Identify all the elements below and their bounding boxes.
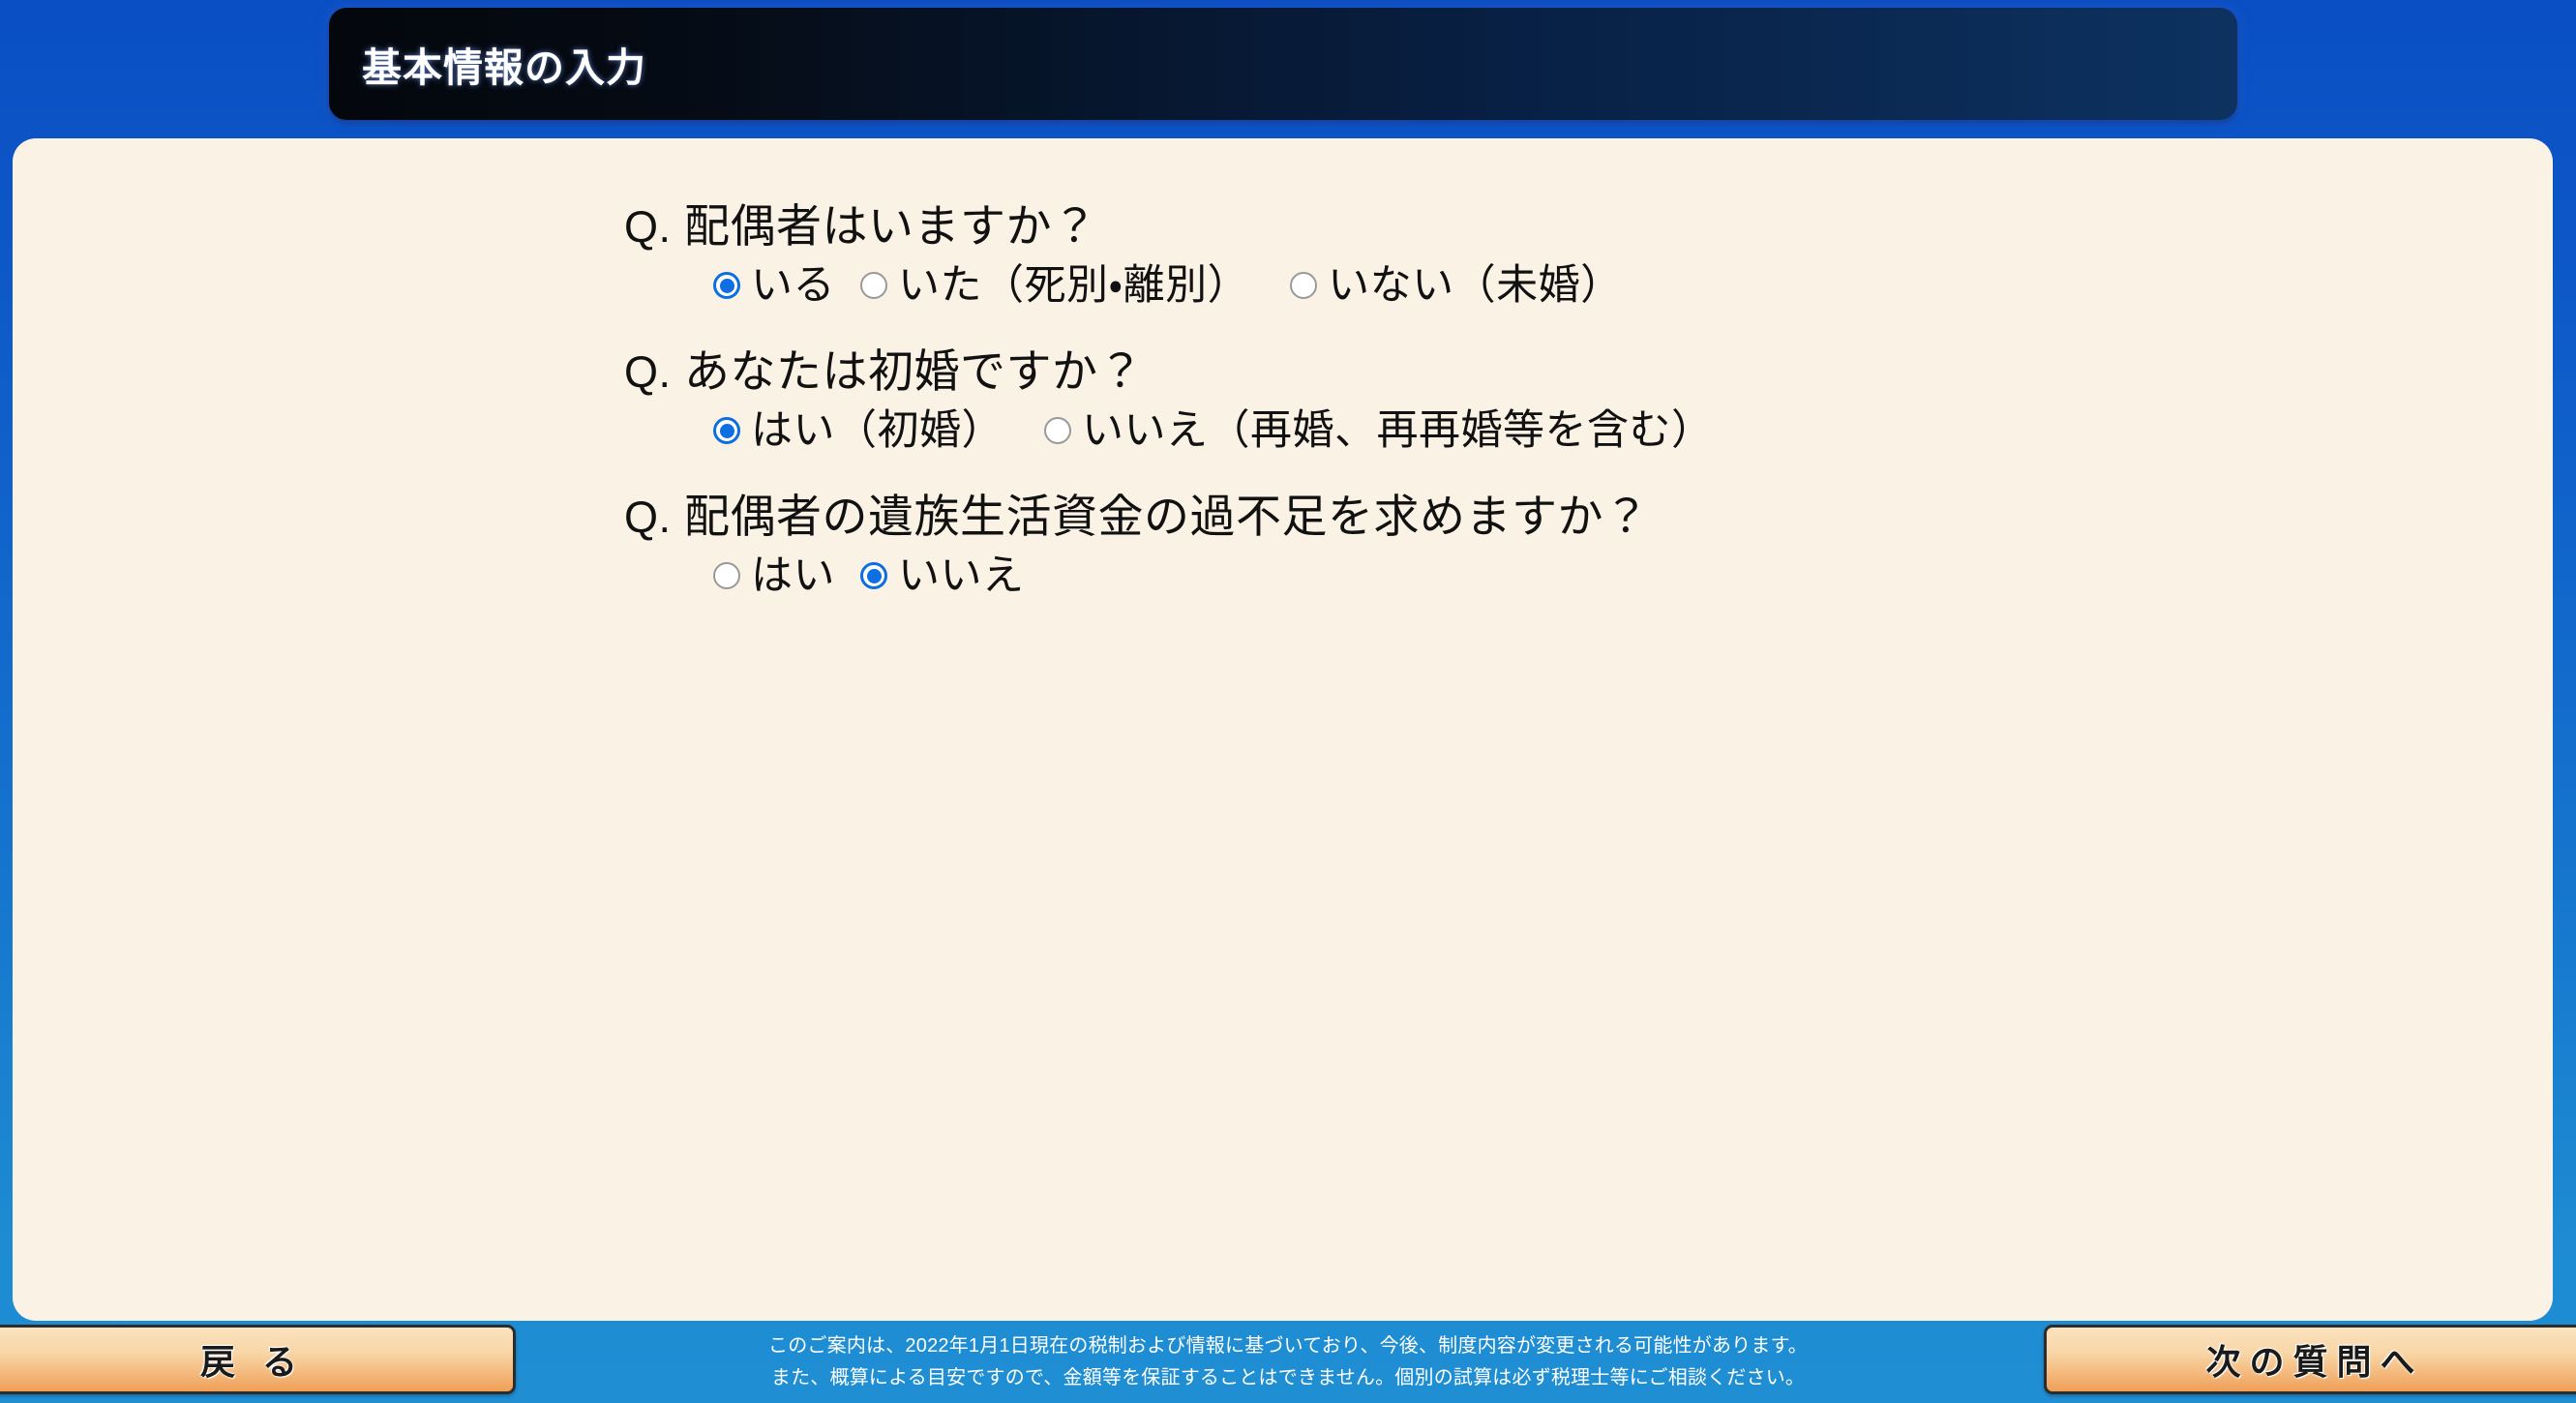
- question-text-2: Q.あなたは初婚ですか？: [624, 343, 2463, 400]
- question-prefix-2: Q.: [624, 346, 684, 400]
- question-block-1: Q.配偶者はいますか？ いる いた（死別・離別） いない（未婚）: [624, 198, 2463, 307]
- question-list: Q.配偶者はいますか？ いる いた（死別・離別） いない（未婚）: [624, 198, 2463, 634]
- page-title: 基本情報の入力: [362, 35, 646, 93]
- radio-option-2-0[interactable]: はい（初婚）: [713, 410, 1003, 452]
- option-group-2: はい（初婚） いいえ（再婚、再再婚等を含む）: [624, 410, 2463, 452]
- content-panel: Q.配偶者はいますか？ いる いた（死別・離別） いない（未婚）: [13, 138, 2553, 1321]
- radio-button-unselected-icon[interactable]: [713, 562, 740, 589]
- back-button[interactable]: 戻 る: [0, 1325, 516, 1394]
- radio-button-selected-icon[interactable]: [860, 562, 887, 589]
- radio-label-3-1: いいえ: [898, 555, 1025, 597]
- radio-button-selected-icon[interactable]: [713, 272, 740, 299]
- radio-option-1-1[interactable]: いた（死別・離別）: [860, 265, 1249, 307]
- radio-button-selected-icon[interactable]: [713, 417, 740, 444]
- radio-label-2-0: はい（初婚）: [751, 410, 1003, 452]
- next-question-button-label: 次の質問へ: [2205, 1334, 2423, 1385]
- radio-label-3-0: はい: [751, 555, 835, 597]
- page-title-bar: 基本情報の入力: [329, 8, 2237, 120]
- question-prefix-1: Q.: [624, 201, 684, 254]
- question-text-1: Q.配偶者はいますか？: [624, 198, 2463, 254]
- next-question-button[interactable]: 次の質問へ: [2044, 1325, 2576, 1394]
- radio-option-3-0[interactable]: はい: [713, 555, 835, 597]
- option-group-3: はい いいえ: [624, 555, 2463, 597]
- radio-label-1-0: いる: [751, 265, 835, 307]
- back-button-label: 戻 る: [200, 1334, 306, 1385]
- radio-option-1-2[interactable]: いない（未婚）: [1290, 265, 1623, 307]
- radio-button-unselected-icon[interactable]: [1044, 417, 1071, 444]
- question-body-2: あなたは初婚ですか？: [684, 345, 1144, 397]
- question-prefix-3: Q.: [624, 492, 684, 545]
- question-body-1: 配偶者はいますか？: [684, 200, 1098, 252]
- question-text-3: Q.配偶者の遺族生活資金の過不足を求めますか？: [624, 489, 2463, 545]
- question-block-2: Q.あなたは初婚ですか？ はい（初婚） いいえ（再婚、再再婚等を含む）: [624, 343, 2463, 452]
- radio-label-1-2: いない（未婚）: [1328, 265, 1623, 307]
- radio-option-1-0[interactable]: いる: [713, 265, 835, 307]
- radio-button-unselected-icon[interactable]: [1290, 272, 1317, 299]
- option-group-1: いる いた（死別・離別） いない（未婚）: [624, 265, 2463, 307]
- footer-bar: このご案内は、2022年1月1日現在の税制および情報に基づいており、今後、制度内…: [0, 1321, 2576, 1403]
- radio-button-unselected-icon[interactable]: [860, 272, 887, 299]
- question-block-3: Q.配偶者の遺族生活資金の過不足を求めますか？ はい いいえ: [624, 489, 2463, 597]
- app-root: 基本情報の入力 Q.配偶者はいますか？ いる いた（死別・離別）: [0, 0, 2576, 1403]
- question-body-3: 配偶者の遺族生活資金の過不足を求めますか？: [684, 491, 1650, 542]
- radio-option-2-1[interactable]: いいえ（再婚、再再婚等を含む）: [1044, 410, 1714, 452]
- radio-label-2-1: いいえ（再婚、再再婚等を含む）: [1082, 410, 1714, 452]
- radio-label-1-1: いた（死別・離別）: [898, 265, 1249, 307]
- radio-option-3-1[interactable]: いいえ: [860, 555, 1025, 597]
